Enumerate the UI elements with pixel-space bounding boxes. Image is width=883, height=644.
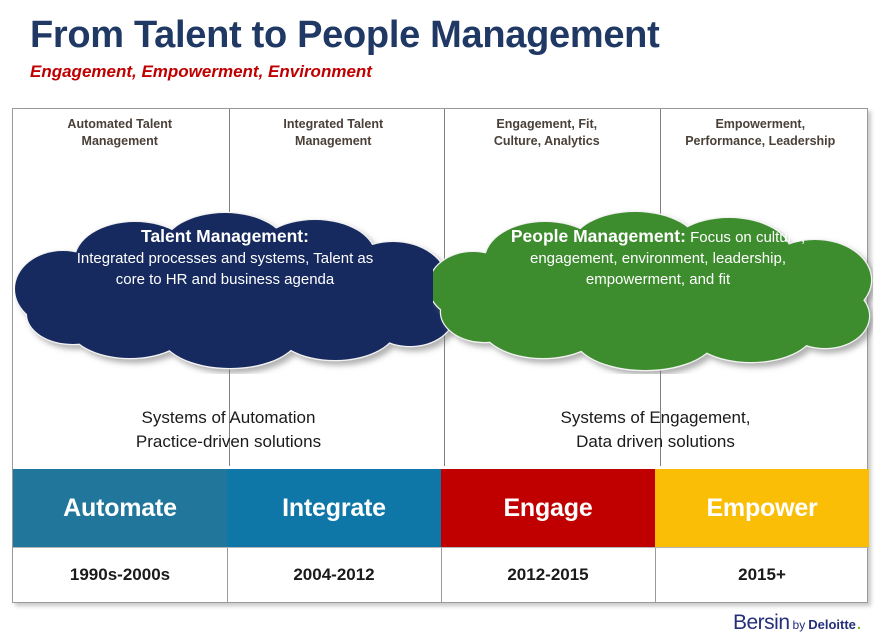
cloud-layer: Talent Management: Integrated processes …: [13, 204, 869, 374]
column-header-engagement-fit-culture-analytics: Engagement, Fit, Culture, Analytics: [440, 109, 654, 169]
talent-management-cloud-body: Integrated processes and systems, Talent…: [77, 250, 374, 288]
column-header-label: Automated Talent Management: [67, 116, 172, 150]
date-cell-automate: 1990s-2000s: [13, 548, 227, 602]
date-label: 2004-2012: [293, 565, 374, 585]
talent-management-cloud-heading: Talent Management:: [141, 226, 309, 246]
people-management-cloud-text: People Management: Focus on culture, eng…: [503, 226, 813, 290]
logo-brand: Bersin: [733, 611, 790, 635]
stage-label: Engage: [503, 494, 592, 523]
people-management-cloud-heading: People Management:: [511, 226, 686, 246]
systems-label: Systems of Engagement, Data driven solut…: [561, 406, 751, 454]
stage-empower[interactable]: Empower: [655, 469, 869, 547]
stage-automate[interactable]: Automate: [13, 469, 227, 547]
stage-label: Automate: [63, 494, 177, 523]
systems-of-automation-cell: Systems of Automation Practice-driven so…: [13, 399, 444, 461]
date-label: 1990s-2000s: [70, 565, 170, 585]
date-cell-engage: 2012-2015: [441, 548, 655, 602]
bersin-by-deloitte-logo: Bersin by Deloitte .: [733, 611, 861, 637]
stage-label: Integrate: [282, 494, 386, 523]
people-management-cloud: People Management: Focus on culture, eng…: [433, 204, 873, 374]
stage-label: Empower: [706, 494, 817, 523]
date-cell-integrate: 2004-2012: [227, 548, 441, 602]
talent-management-cloud: Talent Management: Integrated processes …: [15, 204, 455, 374]
diagram-frame: Automated Talent Management Integrated T…: [12, 108, 868, 603]
logo-dot: .: [857, 616, 861, 633]
date-label: 2012-2015: [507, 565, 588, 585]
systems-row: Systems of Automation Practice-driven so…: [13, 399, 867, 461]
systems-label: Systems of Automation Practice-driven so…: [136, 406, 321, 454]
title-block: From Talent to People Management Engagem…: [30, 12, 860, 82]
column-header-label: Integrated Talent Management: [283, 116, 383, 150]
systems-of-engagement-cell: Systems of Engagement, Data driven solut…: [444, 399, 867, 461]
logo-parent: Deloitte: [808, 617, 856, 632]
talent-management-cloud-text: Talent Management: Integrated processes …: [75, 226, 375, 290]
column-header-row: Automated Talent Management Integrated T…: [13, 109, 867, 169]
stage-band: Automate Integrate Engage Empower: [13, 469, 869, 547]
date-label: 2015+: [738, 565, 786, 585]
date-row: 1990s-2000s 2004-2012 2012-2015 2015+: [13, 547, 869, 602]
column-header-automated-talent-management: Automated Talent Management: [13, 109, 227, 169]
logo-connector: by: [793, 618, 806, 632]
column-header-label: Engagement, Fit, Culture, Analytics: [494, 116, 600, 150]
column-header-label: Empowerment, Performance, Leadership: [685, 116, 835, 150]
column-header-integrated-talent-management: Integrated Talent Management: [227, 109, 441, 169]
page-title: From Talent to People Management: [30, 12, 860, 58]
page-subtitle: Engagement, Empowerment, Environment: [30, 62, 860, 82]
stage-integrate[interactable]: Integrate: [227, 469, 441, 547]
date-cell-empower: 2015+: [655, 548, 869, 602]
column-header-empowerment-performance-leadership: Empowerment, Performance, Leadership: [654, 109, 868, 169]
stage-engage[interactable]: Engage: [441, 469, 655, 547]
